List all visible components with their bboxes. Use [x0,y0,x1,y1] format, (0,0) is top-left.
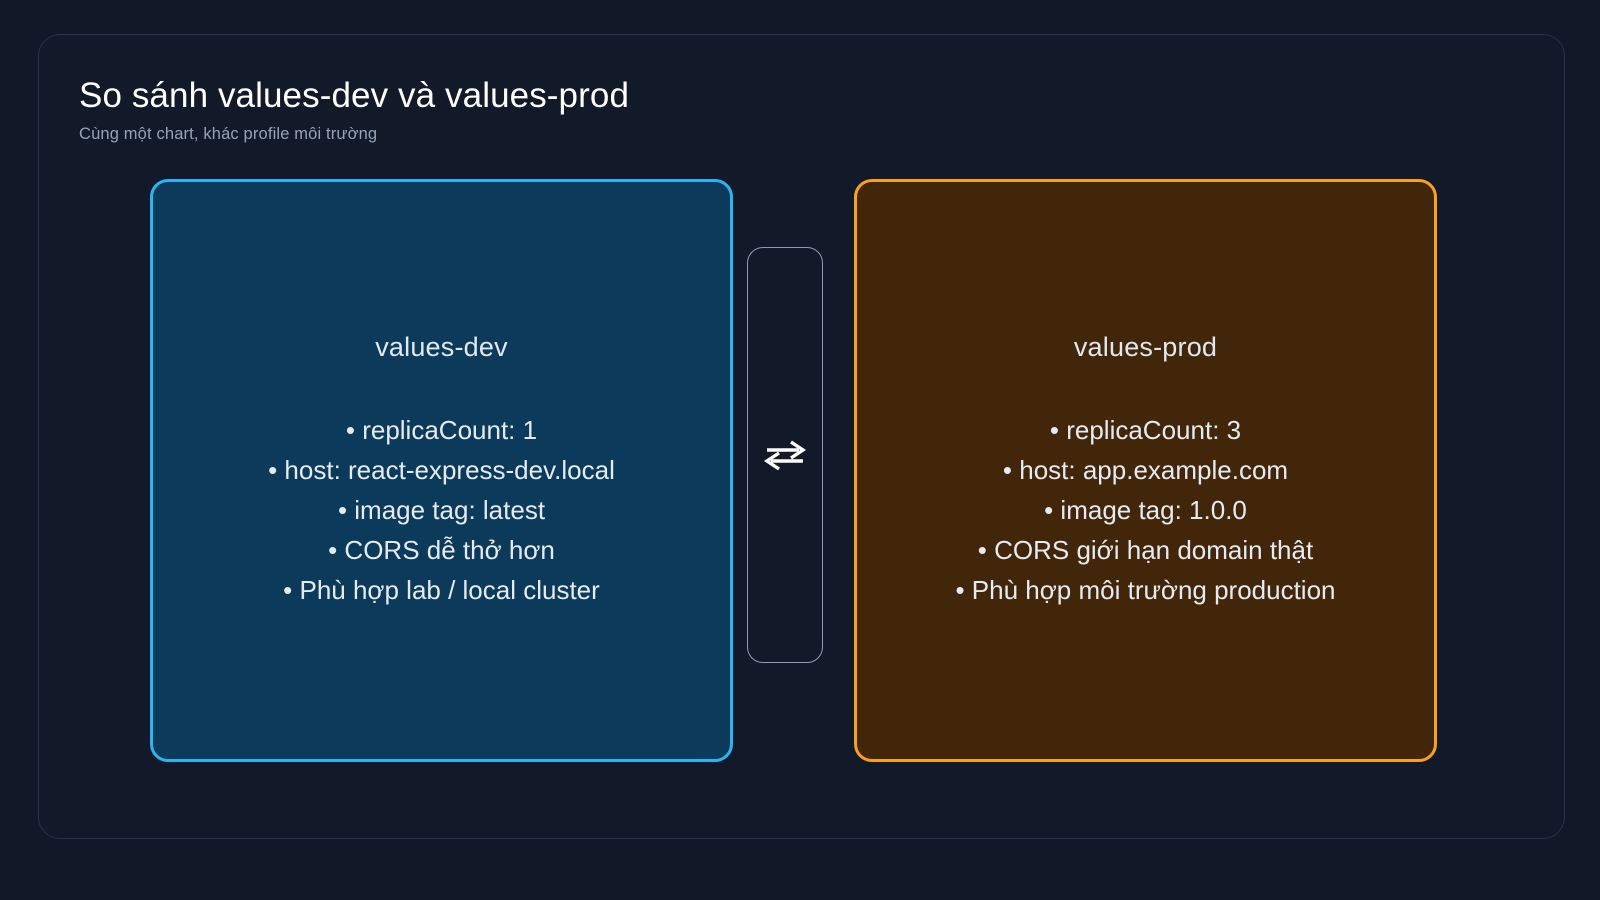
list-item: • replicaCount: 3 [955,410,1335,450]
slide-canvas: So sánh values-dev và values-prod Cùng m… [0,0,1600,900]
list-item: • host: app.example.com [955,450,1335,490]
card-values-prod[interactable]: values-prod • replicaCount: 3 • host: ap… [854,179,1437,762]
exchange-arrows-icon [761,431,809,479]
card-values-prod-list: • replicaCount: 3 • host: app.example.co… [955,410,1335,610]
list-item: • Phù hợp lab / local cluster [268,570,615,610]
list-item: • CORS dễ thở hơn [268,530,615,570]
list-item: • image tag: latest [268,490,615,530]
card-values-dev-list: • replicaCount: 1 • host: react-express-… [268,410,615,610]
card-values-dev-title: values-dev [375,331,508,363]
card-values-dev[interactable]: values-dev • replicaCount: 1 • host: rea… [150,179,733,762]
connector-panel[interactable] [747,247,823,663]
list-item: • image tag: 1.0.0 [955,490,1335,530]
list-item: • CORS giới hạn domain thật [955,530,1335,570]
card-values-prod-title: values-prod [1074,331,1217,363]
list-item: • replicaCount: 1 [268,410,615,450]
content-panel: So sánh values-dev và values-prod Cùng m… [38,34,1565,839]
list-item: • Phù hợp môi trường production [955,570,1335,610]
list-item: • host: react-express-dev.local [268,450,615,490]
comparison-row: values-dev • replicaCount: 1 • host: rea… [39,35,1564,838]
